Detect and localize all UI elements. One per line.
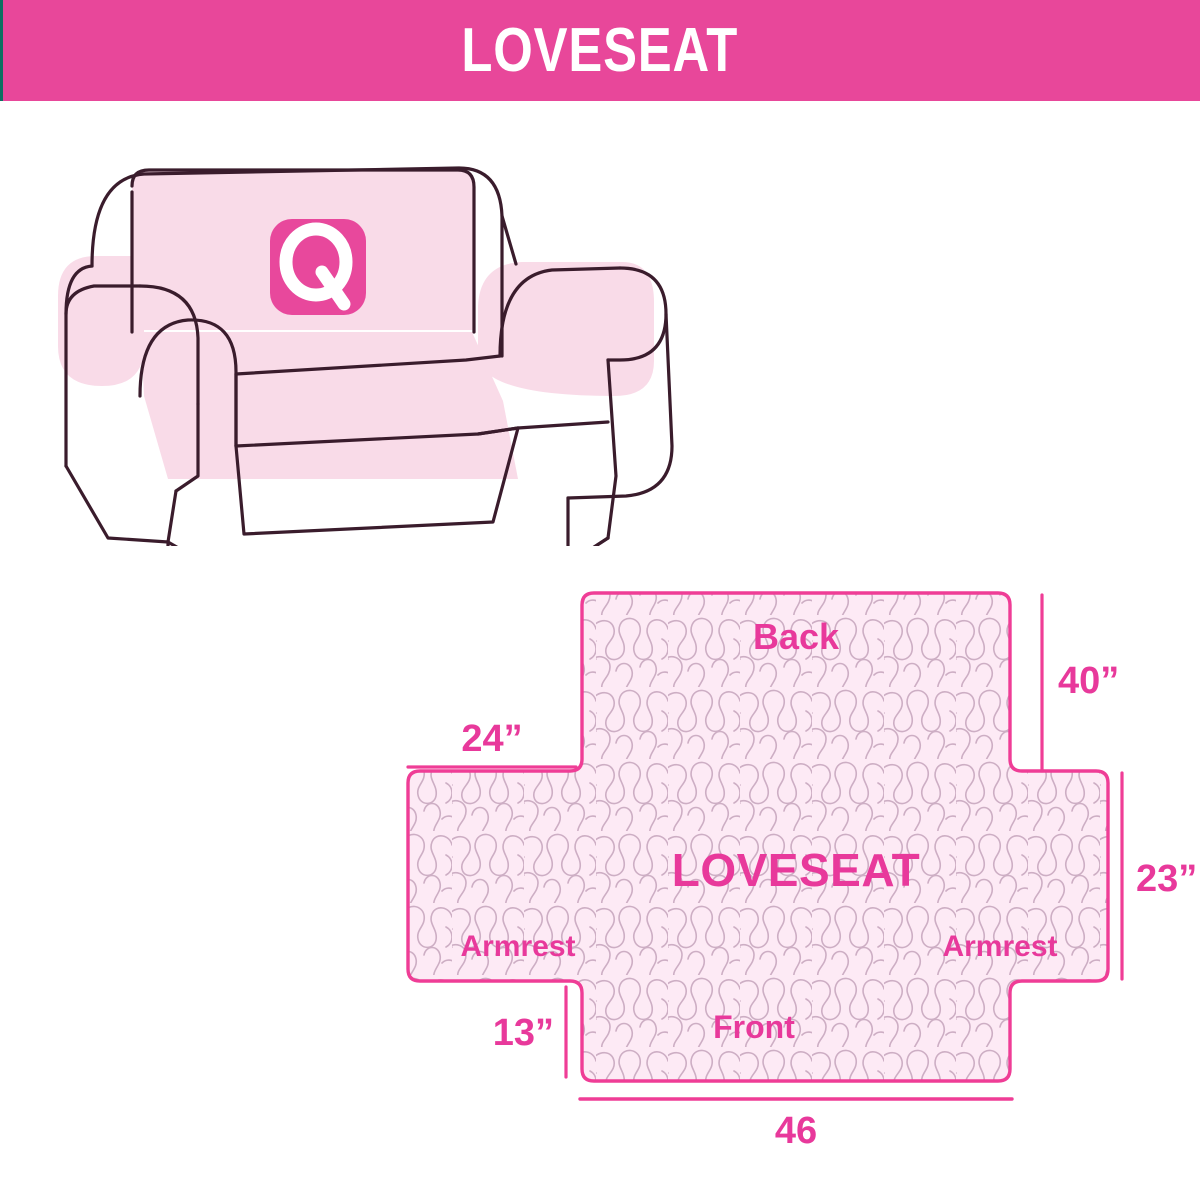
header-banner: LOVESEAT [0,0,1200,101]
panel-label-armrest-left: Armrest [460,930,575,963]
panel-label-front: Front [713,1009,795,1045]
dimension-value-13: 13” [493,1012,554,1054]
dimension-front-height: 13” [493,987,566,1077]
panel-label-center: LOVESEAT [672,844,921,896]
banner-left-edge-accent [0,0,3,101]
cover-pattern-diagram: Back LOVESEAT Armrest Armrest Front 40” … [380,471,1200,1171]
dimension-value-46: 46 [775,1110,817,1152]
brand-logo [270,219,366,315]
content-stage: Back LOVESEAT Armrest Armrest Front 40” … [0,101,1200,1200]
cover-outline [408,593,1108,1081]
page-title: LOVESEAT [462,20,739,82]
dimension-armrest-height: 23” [1122,773,1197,979]
dimension-value-23: 23” [1136,858,1197,900]
dimension-front-width: 46 [580,1099,1012,1152]
dimension-value-40: 40” [1058,660,1119,702]
panel-label-back: Back [753,616,840,657]
dimension-armrest-width: 24” [408,718,576,767]
dimension-value-24: 24” [461,718,522,760]
panel-label-armrest-right: Armrest [942,930,1057,963]
sofa-body-fills [58,170,654,479]
dimension-back-height: 40” [1042,595,1119,771]
